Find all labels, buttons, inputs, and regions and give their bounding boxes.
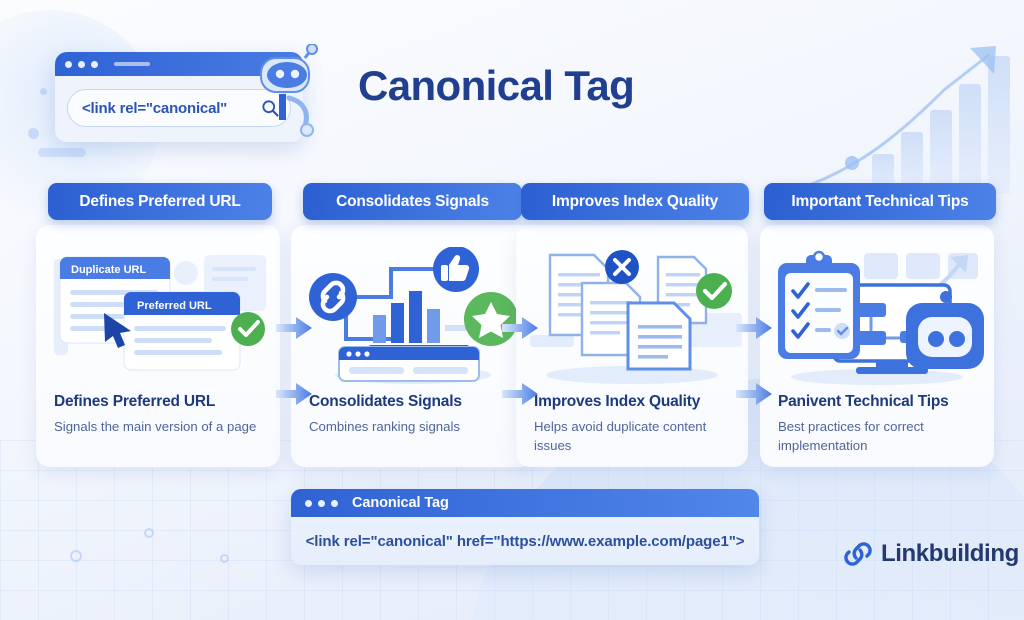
window-dot-yellow [78, 61, 85, 68]
green-check-badge-icon [696, 273, 732, 309]
browser-window-icon [339, 347, 479, 381]
card-3-badge[interactable]: Improves Index Quality [521, 183, 749, 220]
card-2-illustration [291, 247, 535, 387]
card-3-title: Improves Index Quality [534, 393, 734, 411]
card-improves-index-quality[interactable]: Improves Index Quality Helps avoid dupli… [516, 225, 748, 467]
duplicate-url-label: Duplicate URL [71, 264, 146, 276]
robot-mascot-icon [255, 44, 321, 140]
clipboard-checklist-icon [778, 252, 860, 359]
card-4-title: Panivent Technical Tips [778, 393, 980, 411]
card-2-text: Consolidates Signals Combines ranking si… [309, 393, 521, 437]
brand-logo: Linkbuilding [843, 540, 1019, 568]
card-1-text: Defines Preferred URL Signals the main v… [54, 393, 266, 437]
card-4-badge[interactable]: Important Technical Tips [764, 183, 996, 220]
cards-row: Duplicate URL Preferred URL [36, 183, 994, 467]
window-dot-2 [318, 500, 325, 507]
preferred-url-label: Preferred URL [137, 300, 212, 312]
flow-arrow-icon [276, 383, 312, 405]
card-2-badge[interactable]: Consolidates Signals [303, 183, 522, 220]
card-important-technical-tips[interactable]: Panivent Technical Tips Best practices f… [760, 225, 994, 467]
search-input-value: <link rel="canonical" [82, 100, 254, 117]
code-snippet-window: Canonical Tag <link rel="canonical" href… [291, 489, 759, 565]
code-window-title-bar: Canonical Tag [291, 489, 759, 517]
card-1-description: Signals the main version of a page [54, 418, 266, 437]
card-4-text: Panivent Technical Tips Best practices f… [778, 393, 980, 455]
window-dot-3 [331, 500, 338, 507]
card-3-text: Improves Index Quality Helps avoid dupli… [534, 393, 734, 455]
window-dot-green [91, 61, 98, 68]
chain-link-icon [843, 542, 873, 566]
card-1-badge[interactable]: Defines Preferred URL [48, 183, 272, 220]
brand-name: Linkbuilding [881, 540, 1019, 568]
card-1-title: Defines Preferred URL [54, 393, 266, 411]
code-window-title: Canonical Tag [352, 495, 449, 511]
flow-arrow-icon [502, 383, 538, 405]
thumbs-up-badge-icon [433, 247, 479, 292]
card-3-illustration [516, 247, 748, 387]
card-2-title: Consolidates Signals [309, 393, 521, 411]
document-page-icon [628, 303, 690, 369]
card-4-description: Best practices for correct implementatio… [778, 418, 980, 455]
card-defines-preferred-url[interactable]: Duplicate URL Preferred URL [36, 225, 280, 467]
window-dot-red [65, 61, 72, 68]
flow-arrow-icon [502, 317, 538, 339]
window-dot-1 [305, 500, 312, 507]
green-check-badge-icon [231, 312, 265, 346]
code-snippet-text: <link rel="canonical" href="https://www.… [291, 517, 759, 565]
infographic-canvas: <link rel="canonical" Canonical Tag [0, 0, 1024, 620]
card-3-description: Helps avoid duplicate content issues [534, 418, 734, 455]
card-4-illustration [760, 247, 994, 387]
blue-x-badge-icon [605, 250, 639, 284]
flow-arrow-icon [736, 383, 772, 405]
chain-link-badge-icon [309, 273, 357, 321]
bar-chart-icon [369, 291, 469, 350]
flow-arrow-icon [736, 317, 772, 339]
flow-arrow-icon [276, 317, 312, 339]
card-2-description: Combines ranking signals [309, 418, 521, 437]
page-title: Canonical Tag [358, 62, 634, 110]
card-consolidates-signals[interactable]: Consolidates Signals Combines ranking si… [291, 225, 535, 467]
decorative-circles [70, 520, 260, 580]
address-placeholder [114, 62, 150, 66]
card-1-illustration: Duplicate URL Preferred URL [36, 247, 280, 387]
